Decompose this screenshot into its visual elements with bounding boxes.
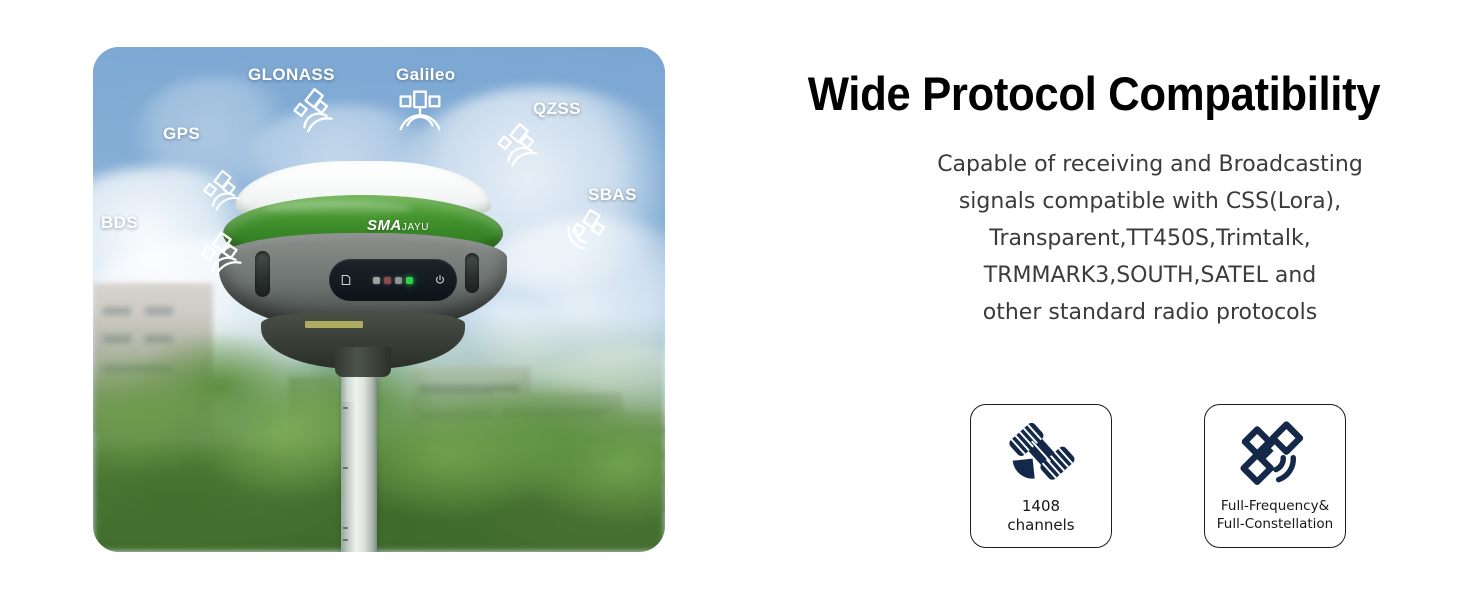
- status-leds: [373, 277, 413, 284]
- badge-constellation: Full-Frequency& Full-Constellation: [1204, 404, 1346, 548]
- badge-channels: 1408 channels: [970, 404, 1112, 548]
- description-text: Capable of receiving and Broadcasting si…: [930, 146, 1370, 331]
- satellite-icon: [393, 85, 447, 137]
- receiver-control-panel: [329, 259, 457, 301]
- feature-badges: 1408 channels: [970, 404, 1346, 548]
- sat-tag-bds: BDS: [101, 213, 138, 233]
- led-indicator: [395, 277, 402, 284]
- description-line: Capable of receiving and Broadcasting: [930, 146, 1370, 183]
- content-panel: Wide Protocol Compatibility Capable of r…: [720, 0, 1464, 600]
- sat-tag-glonass: GLONASS: [248, 65, 335, 85]
- sat-tag-gps: GPS: [163, 124, 200, 144]
- receiver-port-right: [465, 253, 479, 293]
- product-photo: SMAJAYU BDS GPS: [93, 47, 665, 552]
- description-line: Transparent,TT450S,Trimtalk,: [930, 220, 1370, 257]
- survey-pole: [341, 347, 377, 552]
- sat-tag-sbas: SBAS: [588, 185, 637, 205]
- sat-tag-qzss: QZSS: [533, 99, 581, 119]
- satellite-icon: [288, 85, 344, 139]
- badge-label: 1408 channels: [1007, 497, 1074, 535]
- satellite-icon: [198, 167, 250, 217]
- receiver-port-left: [255, 251, 270, 297]
- description-line: TRMMARK3,SOUTH,SATEL and: [930, 257, 1370, 294]
- sd-card-icon: [340, 274, 352, 286]
- satellite-icon: [561, 202, 619, 258]
- page-title: Wide Protocol Compatibility: [773, 66, 1415, 121]
- power-icon: [434, 274, 446, 286]
- sat-tag-galileo: Galileo: [396, 65, 456, 85]
- product-feature-banner: SMAJAYU BDS GPS: [0, 0, 1464, 600]
- satellite-icon: [195, 229, 253, 283]
- led-indicator: [384, 277, 391, 284]
- receiver-mount: [335, 347, 391, 377]
- satellite-icon: [493, 119, 549, 173]
- gnss-receiver: SMAJAYU: [219, 161, 507, 361]
- led-indicator: [406, 277, 413, 284]
- description-line: signals compatible with CSS(Lora),: [930, 183, 1370, 220]
- satellite-signal-icon: [1233, 417, 1317, 493]
- satellite-icon: [999, 417, 1083, 493]
- description-line: other standard radio protocols: [930, 294, 1370, 331]
- badge-label: Full-Frequency& Full-Constellation: [1217, 497, 1333, 533]
- led-indicator: [373, 277, 380, 284]
- device-brand-label: SMAJAYU: [367, 217, 429, 234]
- receiver-sticker: [305, 321, 363, 328]
